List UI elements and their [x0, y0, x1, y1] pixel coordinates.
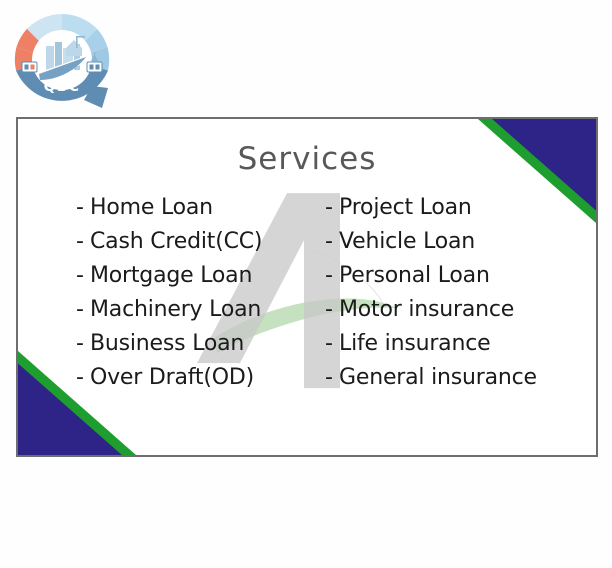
- bullet-dash: -: [325, 225, 339, 259]
- bullet-dash: -: [325, 293, 339, 327]
- list-item[interactable]: - Home Loan: [76, 191, 325, 225]
- bullet-dash: -: [76, 293, 90, 327]
- service-label: Mortgage Loan: [90, 259, 252, 293]
- bullet-dash: -: [76, 191, 90, 225]
- service-label: Business Loan: [90, 327, 244, 361]
- list-item[interactable]: - Over Draft(OD): [76, 361, 325, 395]
- bullet-dash: -: [76, 327, 90, 361]
- service-label: Cash Credit(CC): [90, 225, 262, 259]
- service-label: General insurance: [339, 361, 537, 395]
- qbc-logo: QBC: [6, 8, 118, 120]
- list-item[interactable]: - Project Loan: [325, 191, 582, 225]
- bullet-dash: -: [325, 361, 339, 395]
- service-label: Machinery Loan: [90, 293, 261, 327]
- bullet-dash: -: [76, 259, 90, 293]
- service-label: Personal Loan: [339, 259, 490, 293]
- list-item[interactable]: - Motor insurance: [325, 293, 582, 327]
- list-item[interactable]: - Life insurance: [325, 327, 582, 361]
- services-columns: - Home Loan - Cash Credit(CC) - Mortgage…: [18, 191, 596, 395]
- bullet-dash: -: [325, 259, 339, 293]
- list-item[interactable]: - Cash Credit(CC): [76, 225, 325, 259]
- page-title: Services: [18, 141, 596, 177]
- service-label: Life insurance: [339, 327, 490, 361]
- services-column-left: - Home Loan - Cash Credit(CC) - Mortgage…: [76, 191, 325, 395]
- bullet-dash: -: [325, 191, 339, 225]
- service-label: Project Loan: [339, 191, 472, 225]
- list-item[interactable]: - Personal Loan: [325, 259, 582, 293]
- service-label: Motor insurance: [339, 293, 514, 327]
- bullet-dash: -: [76, 361, 90, 395]
- logo-badge-left: [22, 62, 37, 72]
- bullet-dash: -: [76, 225, 90, 259]
- list-item[interactable]: - Business Loan: [76, 327, 325, 361]
- list-item[interactable]: - General insurance: [325, 361, 582, 395]
- qbc-logo-svg: QBC: [6, 8, 118, 120]
- services-column-right: - Project Loan - Vehicle Loan - Personal…: [325, 191, 582, 395]
- list-item[interactable]: - Machinery Loan: [76, 293, 325, 327]
- service-label: Over Draft(OD): [90, 361, 254, 395]
- logo-wordmark: QBC: [44, 79, 80, 95]
- service-label: Home Loan: [90, 191, 213, 225]
- list-item[interactable]: - Mortgage Loan: [76, 259, 325, 293]
- list-item[interactable]: - Vehicle Loan: [325, 225, 582, 259]
- services-card: Services - Home Loan - Cash Credit(CC) -…: [16, 117, 598, 457]
- card-top-dashed-edge: [18, 117, 168, 119]
- bullet-dash: -: [325, 327, 339, 361]
- service-label: Vehicle Loan: [339, 225, 475, 259]
